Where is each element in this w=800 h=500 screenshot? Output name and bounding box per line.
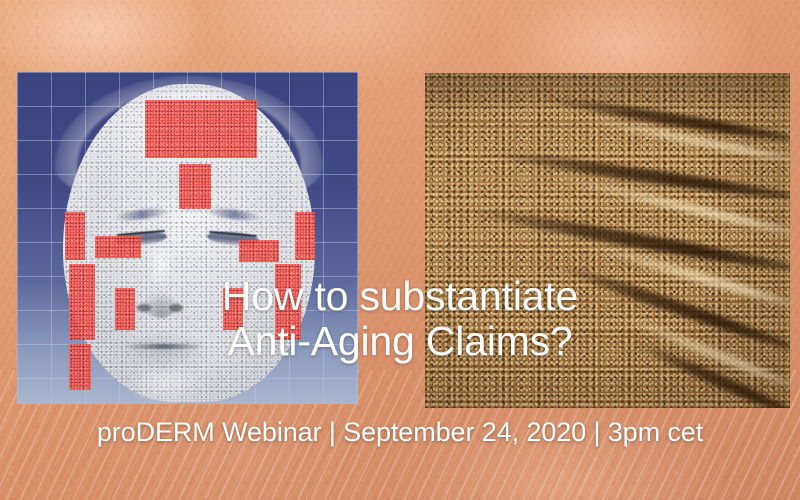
page-title: How to substantiate Anti-Aging Claims? (0, 274, 800, 364)
roi-undereye-right (239, 240, 279, 262)
webinar-banner: How to substantiate Anti-Aging Claims? p… (0, 0, 800, 500)
roi-forehead-center (145, 100, 257, 158)
chin (121, 372, 209, 404)
roi-undereye-left (95, 236, 141, 258)
roi-glabella (179, 164, 211, 209)
roi-crowsfeet-right (295, 212, 315, 260)
event-subtitle: proDERM Webinar | September 24, 2020 | 3… (0, 416, 800, 448)
roi-crowsfeet-left (65, 212, 85, 260)
